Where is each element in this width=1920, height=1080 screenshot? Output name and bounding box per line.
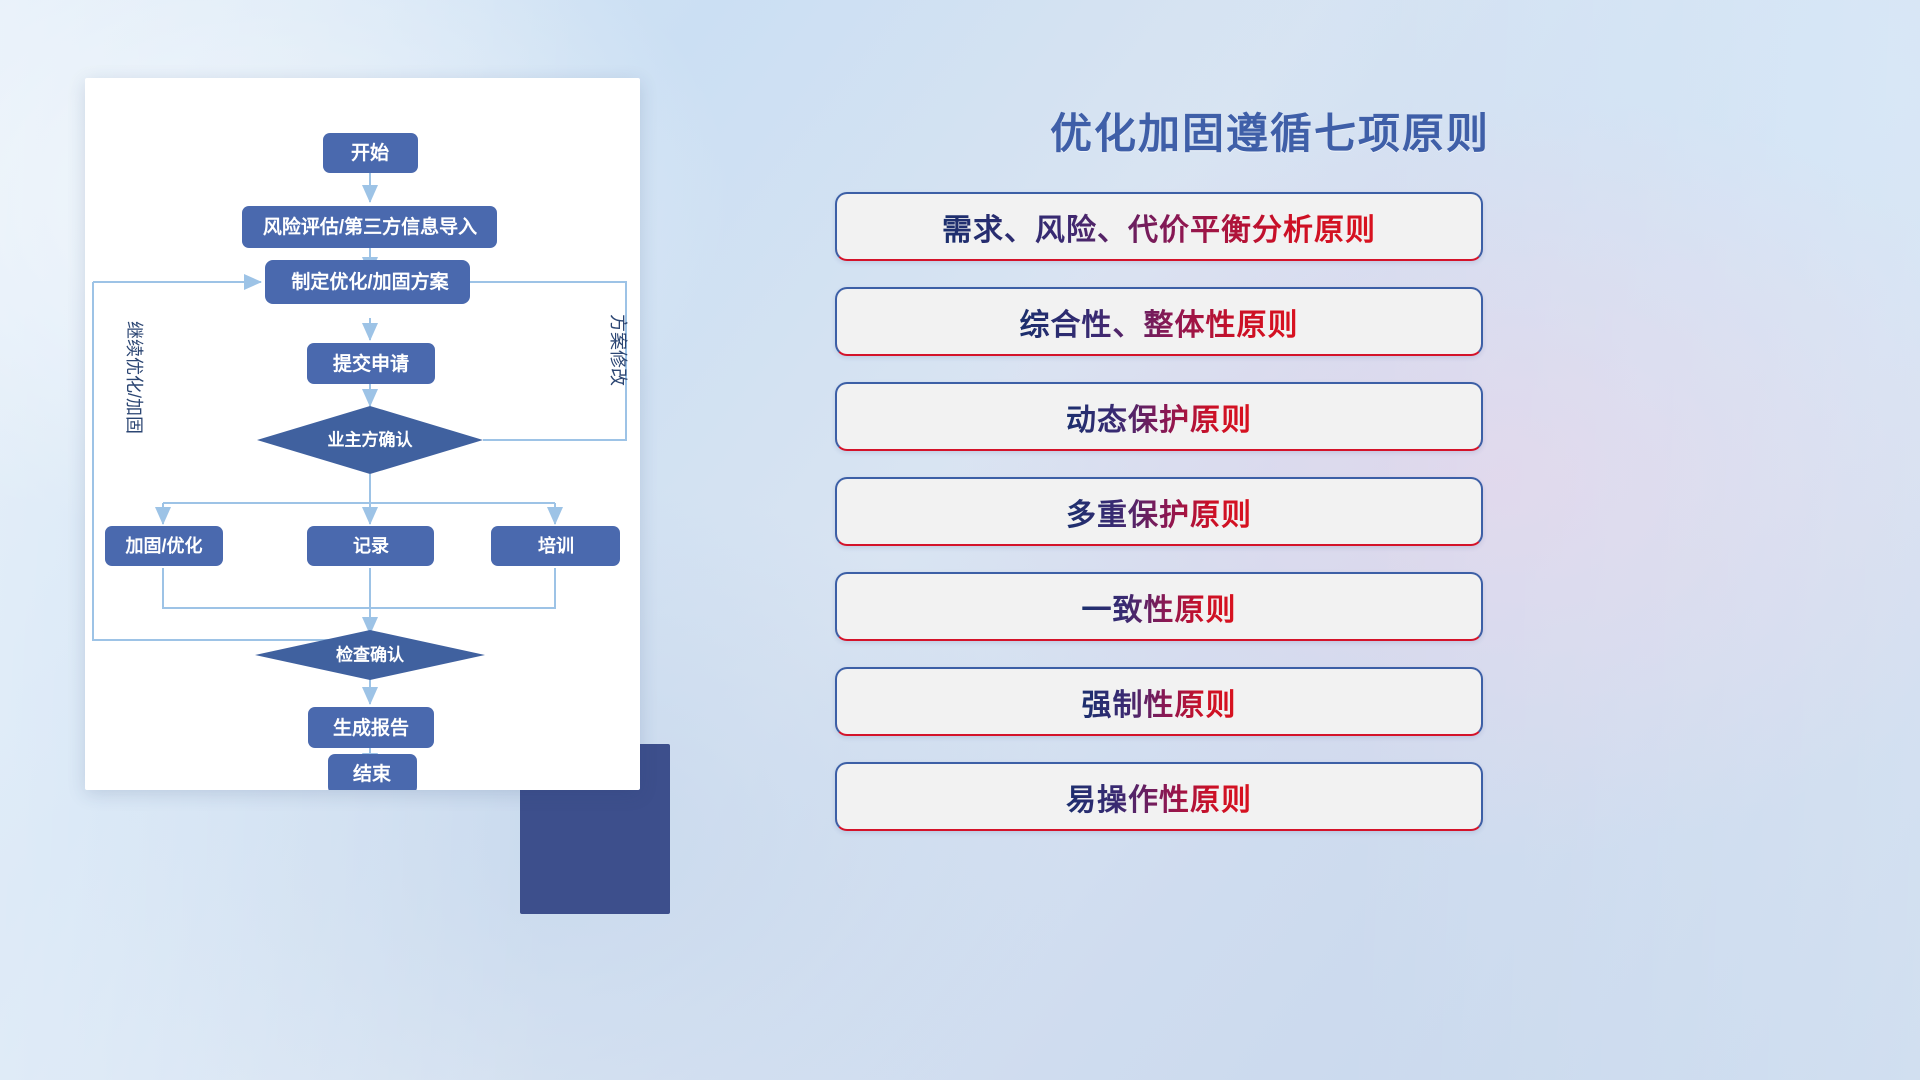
flow-side-label-right-loop: 方案修改: [608, 314, 628, 386]
principle-card-4-label: 多重保护原则: [1066, 490, 1252, 534]
flowchart-card: 开始 风险评估/第三方信息导入 制定优化/加固方案 提交申请 业主方确认 加固/…: [85, 78, 640, 790]
flow-node-owner-confirm[interactable]: 业主方确认: [257, 406, 483, 474]
flow-node-check[interactable]: 检查确认: [255, 630, 485, 680]
principle-card-6[interactable]: 强制性原则: [835, 667, 1483, 736]
flow-node-report-label: 生成报告: [333, 716, 409, 739]
principles-panel: 优化加固遵循七项原则 需求、风险、代价平衡分析原则 综合性、整体性原则 动态保护…: [830, 80, 1490, 1010]
flow-side-label-left-loop: 继续优化/加固: [124, 321, 144, 434]
principle-card-3[interactable]: 动态保护原则: [835, 382, 1483, 451]
principles-card-list: 需求、风险、代价平衡分析原则 综合性、整体性原则 动态保护原则 多重保护原则 一…: [835, 192, 1483, 857]
principle-card-2[interactable]: 综合性、整体性原则: [835, 287, 1483, 356]
flow-node-record-label: 记录: [353, 536, 389, 556]
principle-card-4[interactable]: 多重保护原则: [835, 477, 1483, 546]
principle-card-5-label: 一致性原则: [1082, 585, 1237, 629]
flow-node-record[interactable]: 记录: [307, 526, 434, 566]
flow-node-report[interactable]: 生成报告: [308, 707, 434, 748]
flowchart-svg: 开始 风险评估/第三方信息导入 制定优化/加固方案 提交申请 业主方确认 加固/…: [85, 78, 640, 790]
flow-node-plan[interactable]: 制定优化/加固方案: [265, 260, 470, 304]
flow-node-submit-label: 提交申请: [333, 352, 409, 375]
principle-card-3-label: 动态保护原则: [1066, 395, 1252, 439]
flow-node-train-label: 培训: [538, 535, 574, 556]
principle-card-2-label: 综合性、整体性原则: [1020, 300, 1299, 344]
flow-node-risk-label: 风险评估/第三方信息导入: [263, 215, 477, 238]
flow-node-check-label: 检查确认: [336, 644, 405, 664]
principle-card-5[interactable]: 一致性原则: [835, 572, 1483, 641]
principle-card-6-label: 强制性原则: [1082, 680, 1237, 724]
flow-node-owner-confirm-label: 业主方确认: [328, 429, 414, 449]
flow-node-train[interactable]: 培训: [491, 526, 620, 566]
panel-title: 优化加固遵循七项原则: [940, 100, 1600, 161]
flow-node-end-label: 结束: [353, 762, 392, 785]
flow-node-reinforce-label: 加固/优化: [124, 535, 202, 556]
principle-card-1[interactable]: 需求、风险、代价平衡分析原则: [835, 192, 1483, 261]
principle-card-1-label: 需求、风险、代价平衡分析原则: [942, 205, 1376, 249]
flow-node-start-label: 开始: [351, 141, 389, 164]
flow-node-risk[interactable]: 风险评估/第三方信息导入: [242, 206, 497, 248]
flow-node-reinforce[interactable]: 加固/优化: [105, 526, 223, 566]
principle-card-7-label: 易操作性原则: [1066, 775, 1252, 819]
flow-node-submit[interactable]: 提交申请: [307, 343, 435, 384]
flow-node-end[interactable]: 结束: [328, 754, 417, 790]
flow-node-plan-label: 制定优化/加固方案: [291, 270, 449, 293]
principle-card-7[interactable]: 易操作性原则: [835, 762, 1483, 831]
flow-node-start[interactable]: 开始: [323, 133, 418, 173]
